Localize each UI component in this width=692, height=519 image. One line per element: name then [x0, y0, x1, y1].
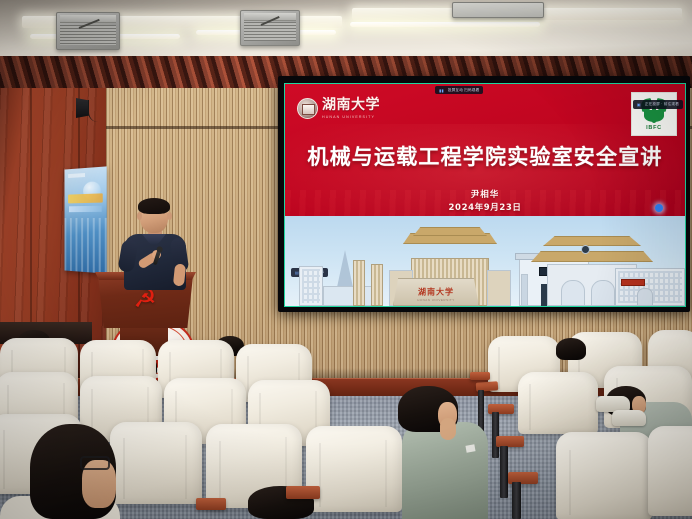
temple-roof-ornament — [581, 245, 590, 254]
red-banner-sign — [621, 279, 645, 286]
presentation-slide: 湖南大学 HUNAN UNIVERSITY IBFC — [285, 84, 685, 306]
person-hair — [556, 338, 586, 360]
seat-fold — [185, 435, 187, 499]
seat-leg-aisle-1 — [492, 412, 499, 458]
temple-arch-right — [591, 280, 615, 306]
poster-cityscape-graphic — [64, 218, 106, 274]
stone-sign-text: 湖南大学 — [418, 287, 454, 298]
freestanding-column-right — [371, 264, 383, 306]
seat-fold — [569, 450, 571, 515]
audience-person-right-back — [556, 338, 586, 360]
seat-fold — [123, 438, 125, 499]
campus-architecture-illustration: ▤ 演示文稿 · 1 — [285, 216, 685, 306]
armrest-center-front — [286, 486, 320, 499]
eyeglasses — [80, 456, 110, 470]
temple-arch-left — [561, 280, 585, 306]
seat-right-rowC-1[interactable] — [556, 432, 652, 519]
ac-panel-left — [60, 15, 116, 23]
ibfc-label: IBFC — [646, 125, 662, 131]
slide-date: 2024年9月23日 — [285, 201, 685, 213]
freestanding-column-left — [353, 260, 365, 306]
temple-lower-roof — [531, 251, 653, 262]
seat-fold — [498, 347, 500, 388]
ceiling — [0, 0, 692, 62]
ibfc-logo: IBFC — [631, 92, 677, 136]
air-conditioner-unit-right — [240, 10, 300, 46]
seat-leg-aisle-2 — [500, 446, 508, 498]
seat-fold — [529, 384, 531, 430]
building-far-left — [299, 266, 323, 306]
seat-fold — [385, 440, 387, 507]
screen-display-area[interactable]: 湖南大学 HUNAN UNIVERSITY IBFC — [284, 83, 686, 307]
screencast-right-text: 正在投屏 · 前往观看 — [645, 102, 679, 107]
campus-stone-sign: 湖南大学 HUNAN UNIVERSITY — [393, 278, 479, 306]
seat-rowC-2[interactable] — [110, 422, 202, 504]
presenter-ear-left — [137, 212, 142, 220]
shoe-right — [612, 410, 646, 426]
seat-cover — [110, 422, 202, 504]
seat-right-rowB-1[interactable] — [518, 372, 598, 434]
university-name-cn: 湖南大学 — [322, 99, 380, 113]
seat-right-rowC-2[interactable] — [648, 426, 692, 516]
pointer-cursor-dot[interactable] — [655, 204, 663, 212]
blue-cityscape-poster — [64, 166, 106, 273]
university-seal-icon — [297, 98, 318, 119]
slide-title: 机械与运载工程学院实验室安全宣讲 — [285, 141, 685, 171]
stone-sign-subtext: HUNAN UNIVERSITY — [417, 298, 455, 302]
presenter-hair — [138, 198, 170, 214]
seat-fold — [3, 430, 5, 489]
main-hall-roof-upper — [413, 227, 487, 236]
armrest-center-front-2 — [196, 498, 226, 510]
seat-cover — [648, 426, 692, 516]
seat-cover — [518, 372, 598, 434]
signal-icon: ▮▮ — [439, 88, 444, 93]
poster-title-band — [68, 193, 103, 203]
seat-cover — [556, 432, 652, 519]
screencast-status-overlay-right[interactable]: ▣ 正在投屏 · 前往观看 — [633, 100, 683, 109]
main-hall-wing-right — [487, 270, 511, 306]
poster-subtitle-band — [69, 206, 102, 213]
window-grid — [302, 269, 320, 303]
light-strip-3 — [350, 22, 540, 27]
audience-person-green-hand — [440, 418, 456, 440]
gate-lantern-post — [521, 274, 528, 306]
projection-screen[interactable]: 湖南大学 HUNAN UNIVERSITY IBFC — [278, 76, 690, 312]
presenter-speaker — [116, 198, 194, 290]
speaker-cable — [88, 100, 99, 122]
temple-upper-roof — [543, 236, 641, 246]
ac-vent-left — [60, 25, 116, 45]
seat-leg-aisle-3 — [512, 482, 521, 519]
slide-presenter-name: 尹相华 — [285, 188, 685, 200]
hunan-university-logo: 湖南大学 HUNAN UNIVERSITY — [297, 98, 380, 119]
seat-fold — [219, 441, 221, 503]
seat-rowC-4[interactable] — [306, 426, 402, 512]
seat-cover — [306, 426, 402, 512]
air-conditioner-unit-left — [56, 12, 120, 50]
audience-person-front-left — [30, 424, 116, 519]
university-name-en: HUNAN UNIVERSITY — [322, 115, 380, 119]
lecture-hall-photo: 湖南大学 HUNAN UNIVERSITY IBFC — [0, 0, 692, 519]
screencast-status-overlay-top[interactable]: ▮▮ 投屏互动 扫码观看 — [435, 86, 483, 94]
cast-icon: ▣ — [637, 102, 641, 107]
right-building-entry-arch — [637, 288, 653, 306]
presenter-ear-right — [167, 212, 172, 220]
poster-header-bar — [68, 173, 85, 178]
ceiling-vent-panel — [452, 2, 544, 18]
armrest-aisle-0 — [470, 372, 490, 380]
screencast-status-text: 投屏互动 扫码观看 — [448, 88, 480, 93]
ac-vent-right — [244, 22, 296, 41]
